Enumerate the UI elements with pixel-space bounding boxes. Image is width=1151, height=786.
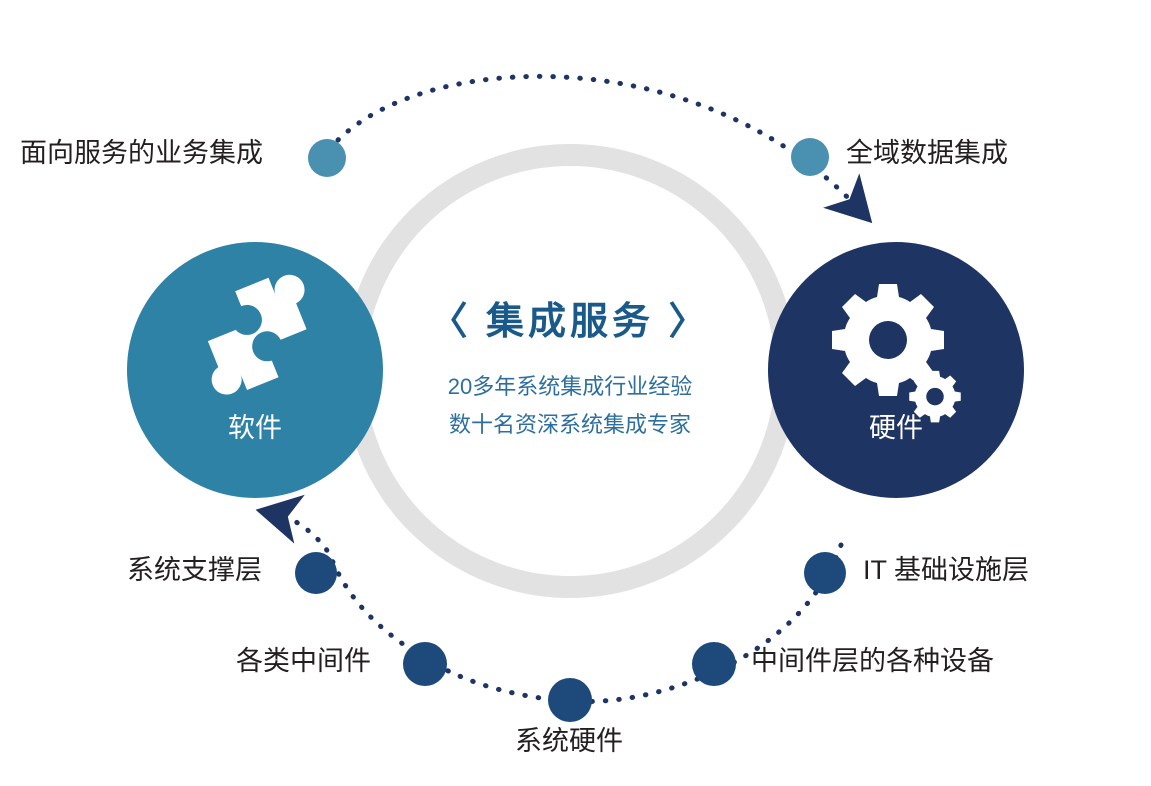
sat-system-support-label: 系统支撑层 — [127, 557, 262, 584]
sat-middleware-devices-dot[interactable] — [692, 642, 736, 686]
sat-service-integration-dot[interactable] — [308, 139, 346, 177]
sat-middleware-devices-label: 中间件层的各种设备 — [751, 648, 994, 675]
hardware-label: 硬件 — [826, 406, 966, 445]
sat-global-data-label: 全域数据集成 — [846, 140, 1008, 167]
center-subtitle-line-2: 数十名资深系统集成专家 — [370, 406, 770, 445]
top-dotted-arc — [338, 76, 855, 205]
sat-system-hardware-label: 系统硬件 — [515, 728, 623, 755]
sat-middleware-dot[interactable] — [403, 642, 447, 686]
sat-service-integration-label: 面向服务的业务集成 — [20, 140, 263, 167]
software-label: 软件 — [185, 406, 325, 445]
center-subtitle-line-1: 20多年系统集成行业经验 — [370, 368, 770, 407]
sat-system-support-dot[interactable] — [295, 552, 337, 594]
sat-it-infrastructure-label: IT 基础设施层 — [863, 557, 1029, 584]
sat-middleware-label: 各类中间件 — [236, 648, 371, 675]
sat-it-infrastructure-dot[interactable] — [804, 552, 846, 594]
sat-global-data-dot[interactable] — [791, 138, 829, 176]
center-title: 〈 集成服务 〉 — [370, 290, 770, 345]
infographic-canvas: 〈 集成服务 〉 20多年系统集成行业经验 数十名资深系统集成专家 软件 硬件 … — [0, 0, 1151, 786]
sat-system-hardware-dot[interactable] — [548, 678, 592, 722]
